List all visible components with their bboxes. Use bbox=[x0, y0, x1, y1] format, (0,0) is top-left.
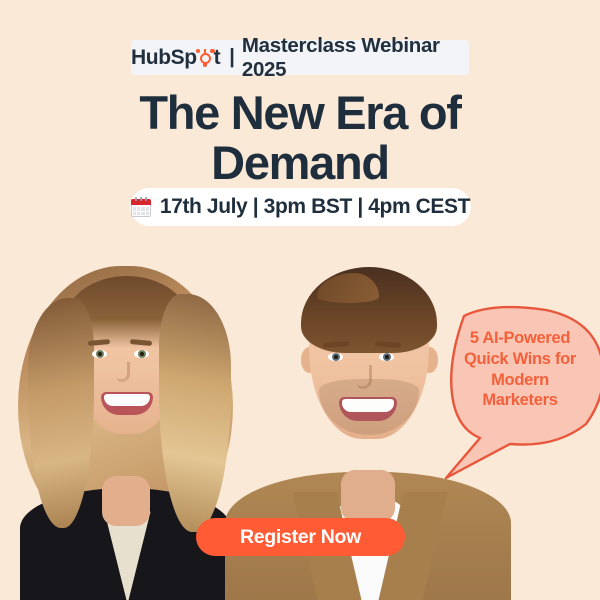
page-title: The New Era of Demand bbox=[0, 88, 600, 188]
eye-right bbox=[379, 353, 394, 361]
mouth bbox=[339, 397, 397, 421]
webinar-promo-poster: HubSp t | Masterclass Webinar 2025 The N… bbox=[0, 0, 600, 600]
hubspot-logo-text-start: HubSp bbox=[131, 46, 197, 70]
eye-left bbox=[92, 350, 107, 358]
brand-badge: HubSp t | Masterclass Webinar 2025 bbox=[131, 40, 469, 75]
register-now-button[interactable]: Register Now bbox=[196, 518, 405, 556]
hair-part bbox=[317, 273, 379, 303]
eye-left bbox=[328, 353, 343, 361]
bubble-line-4: Marketers bbox=[482, 391, 557, 409]
bubble-line-3: Modern bbox=[491, 371, 549, 389]
hubspot-sprocket-icon bbox=[197, 48, 214, 65]
neck bbox=[341, 470, 395, 522]
badge-separator: | bbox=[229, 46, 235, 69]
eye-right bbox=[134, 350, 149, 358]
headline-line-2: Demand bbox=[211, 136, 389, 189]
hubspot-logo: HubSp t bbox=[131, 46, 220, 70]
headline-line-1: The New Era of bbox=[139, 86, 460, 139]
event-date-text: 17th July | 3pm BST | 4pm CEST bbox=[160, 195, 470, 219]
event-date-pill: 17th July | 3pm BST | 4pm CEST bbox=[130, 188, 471, 226]
calendar-icon bbox=[131, 197, 151, 217]
hair-right-strand bbox=[159, 294, 231, 532]
register-now-label: Register Now bbox=[240, 526, 361, 549]
hubspot-logo-text-end: t bbox=[214, 46, 221, 70]
bubble-line-2: Quick Wins for bbox=[464, 350, 576, 368]
mouth bbox=[101, 392, 153, 415]
nose bbox=[117, 362, 130, 382]
bubble-line-1: 5 AI-Powered bbox=[470, 329, 570, 347]
speech-bubble-text: 5 AI-Powered Quick Wins for Modern Marke… bbox=[446, 328, 594, 411]
badge-title: Masterclass Webinar 2025 bbox=[242, 34, 469, 82]
neck bbox=[102, 476, 150, 526]
